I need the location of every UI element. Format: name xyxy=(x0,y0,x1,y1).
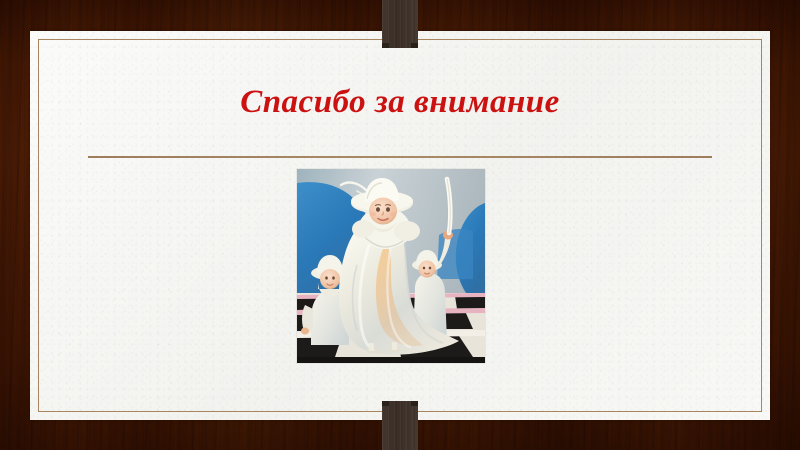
slide-canvas: Спасибо за внимание xyxy=(0,0,800,450)
ribbon-notch-right xyxy=(411,43,418,48)
ribbon-notch-right xyxy=(411,401,418,406)
slide-illustration xyxy=(297,169,485,363)
ribbon-notch-left xyxy=(382,401,389,406)
bottom-ribbon-tab xyxy=(382,401,418,450)
ribbon-notch-left xyxy=(382,43,389,48)
top-ribbon-tab xyxy=(382,0,418,48)
illustration-artwork xyxy=(297,169,485,363)
slide-title: Спасибо за внимание xyxy=(60,82,740,122)
title-divider xyxy=(88,156,712,158)
